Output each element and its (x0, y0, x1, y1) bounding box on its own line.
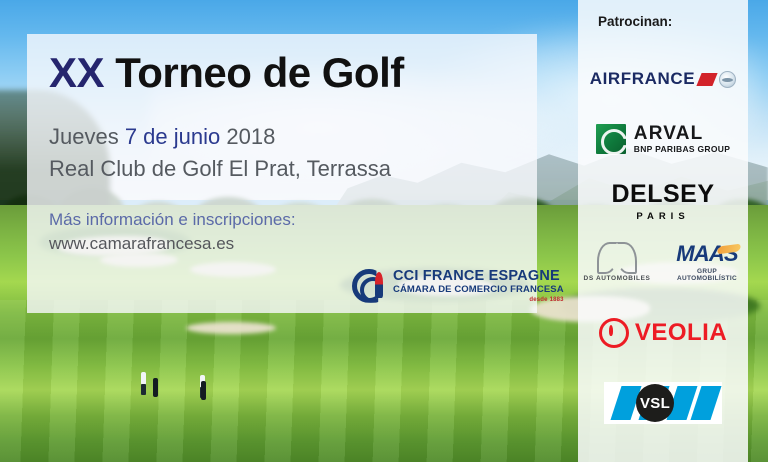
vsl-wordmark: VSL (640, 395, 670, 412)
sand-bunker (186, 322, 276, 334)
sponsors-panel: Patrocinan: AIRFRANCE ARVAL BNP PARIBAS … (578, 0, 748, 462)
delsey-tagline: PARIS (611, 211, 714, 222)
golf-bag (153, 378, 158, 397)
arval-text: ARVAL BNP PARIBAS GROUP (634, 124, 730, 153)
veolia-droplet-icon (599, 318, 629, 348)
veolia-logo-icon: VEOLIA (599, 318, 727, 348)
sponsors-title: Patrocinan: (578, 14, 748, 29)
event-details: Jueves 7 de junio 2018 Real Club de Golf… (49, 121, 515, 183)
skyteam-globe-icon (719, 71, 736, 88)
airfrance-stripe-icon (697, 73, 718, 86)
arval-logo-icon: ARVAL BNP PARIBAS GROUP (596, 124, 730, 154)
sponsor-veolia[interactable]: VEOLIA (578, 305, 748, 361)
golfer-legs (141, 384, 146, 395)
golf-tournament-banner: XX Torneo de Golf Jueves 7 de junio 2018… (0, 0, 768, 462)
organizer-text: CCI FRANCE ESPAGNE CÁMARA DE COMERCIO FR… (393, 269, 564, 303)
page-title: XX Torneo de Golf (49, 50, 515, 95)
date-accent: 7 de junio (125, 124, 220, 149)
contact-block: Más información e inscripciones: www.cam… (49, 208, 515, 257)
vsl-logo-icon: VSL (604, 382, 722, 424)
event-info-panel: XX Torneo de Golf Jueves 7 de junio 2018… (27, 34, 537, 313)
date-prefix: Jueves (49, 124, 125, 149)
title-rest: Torneo de Golf (104, 49, 404, 96)
organizer-name: CCI FRANCE ESPAGNE (393, 269, 564, 284)
edition-number: XX (49, 49, 104, 96)
organizer-logo[interactable]: CCI FRANCE ESPAGNE CÁMARA DE COMERCIO FR… (352, 269, 564, 303)
golf-bag (201, 381, 206, 400)
vsl-badge: VSL (636, 384, 674, 422)
cci-c-logo-icon (352, 269, 386, 303)
sponsor-arval[interactable]: ARVAL BNP PARIBAS GROUP (578, 111, 748, 167)
event-date: Jueves 7 de junio 2018 (49, 121, 515, 152)
sponsor-airfrance[interactable]: AIRFRANCE (578, 51, 748, 107)
airfrance-wordmark: AIRFRANCE (590, 69, 696, 89)
maas-logo-icon: MAAS (676, 241, 738, 267)
organizer-since: desde 1883 (393, 297, 564, 303)
delsey-logo-icon: DELSEY PARIS (611, 180, 714, 222)
arval-mark-icon (596, 124, 626, 154)
arval-tagline: BNP PARIBAS GROUP (634, 145, 730, 154)
sponsor-ds-automobiles[interactable]: DS AUTOMOBILES (579, 240, 655, 282)
sponsor-row-cars: DS AUTOMOBILES MAAS GRUP AUTOMOBILÍSTIC (578, 233, 748, 289)
website-link[interactable]: www.camarafrancesa.es (49, 232, 515, 257)
sponsor-maas[interactable]: MAAS GRUP AUTOMOBILÍSTIC (667, 241, 747, 282)
airfrance-logo-icon: AIRFRANCE (590, 69, 737, 89)
contact-lead: Más información e inscripciones: (49, 208, 515, 233)
arval-wordmark: ARVAL (634, 124, 730, 143)
ds-automobiles-logo-icon (597, 240, 637, 272)
ds-automobiles-wordmark: DS AUTOMOBILES (579, 275, 655, 282)
cci-flame-icon (375, 272, 383, 298)
event-venue: Real Club de Golf El Prat, Terrassa (49, 153, 515, 184)
date-suffix: 2018 (220, 124, 275, 149)
sponsor-vsl[interactable]: VSL (578, 375, 748, 431)
sponsor-delsey[interactable]: DELSEY PARIS (578, 173, 748, 229)
delsey-wordmark: DELSEY (611, 180, 714, 209)
organizer-subtitle: CÁMARA DE COMERCIO FRANCESA (393, 285, 564, 295)
maas-tagline: GRUP AUTOMOBILÍSTIC (667, 268, 747, 282)
veolia-wordmark: VEOLIA (635, 319, 727, 347)
